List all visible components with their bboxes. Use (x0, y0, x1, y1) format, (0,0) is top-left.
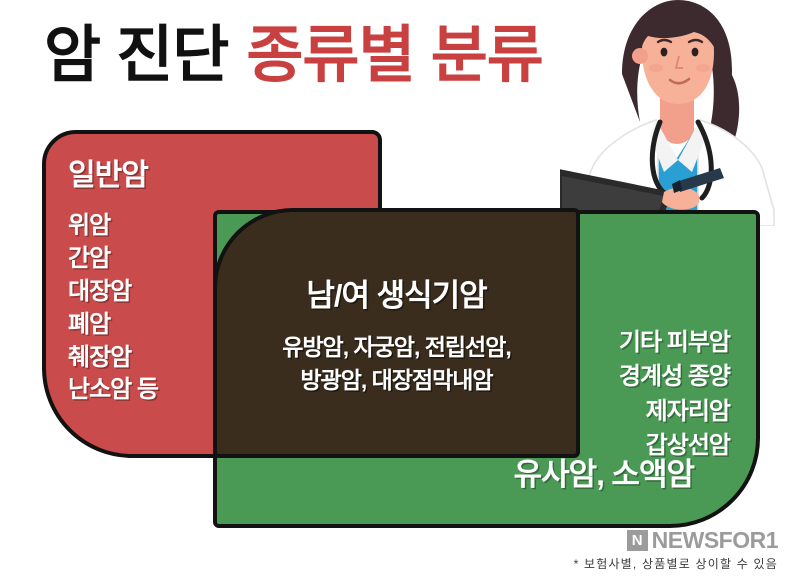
watermark-logo: N NEWSFOR1 (627, 527, 778, 554)
footnote-text: * 보험사별, 상품별로 상이할 수 있음 (574, 555, 778, 572)
similar-cancer-item: 기타 피부암 (619, 326, 730, 360)
watermark-badge-icon: N (627, 530, 648, 551)
page-title-primary: 암 진단 (44, 25, 228, 87)
doctor-illustration (560, 0, 792, 226)
reproductive-cancer-content: 남/여 생식기암 유방암, 자궁암, 전립선암, 방광암, 대장점막내암 (217, 270, 576, 398)
panel-reproductive-cancer: 남/여 생식기암 유방암, 자궁암, 전립선암, 방광암, 대장점막내암 (213, 208, 580, 458)
page-title-accent: 종류별 분류 (246, 25, 542, 87)
reproductive-cancer-line: 방광암, 대장점막내암 (217, 364, 576, 397)
similar-cancer-content: 기타 피부암 경계성 종양 제자리암 갑상선암 (619, 326, 730, 463)
similar-cancer-item: 경계성 종양 (619, 360, 730, 394)
page-title: 암 진단 종류별 분류 (44, 16, 644, 96)
watermark-text: NEWSFOR1 (652, 527, 778, 554)
reproductive-cancer-heading: 남/여 생식기암 (217, 270, 576, 315)
similar-cancer-item: 제자리암 (619, 395, 730, 429)
general-cancer-heading: 일반암 (68, 150, 248, 194)
reproductive-cancer-line: 유방암, 자궁암, 전립선암, (217, 331, 576, 364)
